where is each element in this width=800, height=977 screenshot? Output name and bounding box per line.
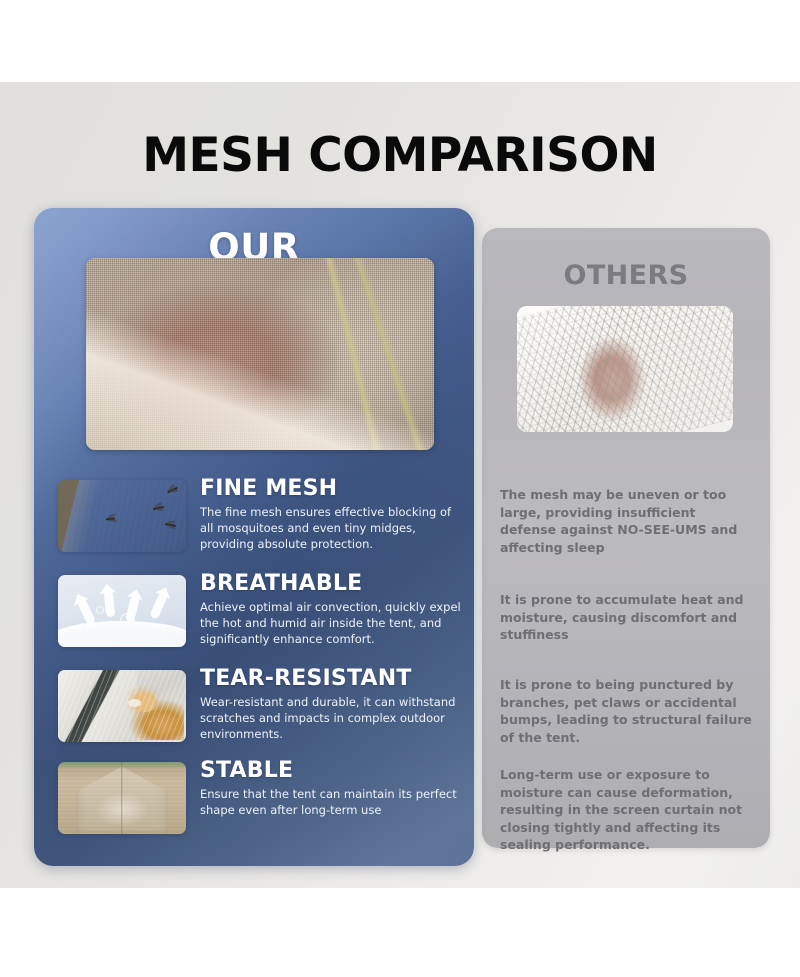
our-panel: OUR FINE MESH The fine mesh ensures effe… xyxy=(34,208,474,866)
feature-thumbnail xyxy=(58,670,186,742)
feature-copy: BREATHABLE Achieve optimal air convectio… xyxy=(200,571,462,647)
others-drawback-item: Long-term use or exposure to moisture ca… xyxy=(500,766,754,854)
others-panel: OTHERS The mesh may be uneven or too lar… xyxy=(482,228,770,848)
feature-description: The fine mesh ensures effective blocking… xyxy=(200,504,462,552)
feature-copy: FINE MESH The fine mesh ensures effectiv… xyxy=(200,476,462,552)
fine-mesh-closeup-illustration xyxy=(86,258,434,450)
feature-heading: BREATHABLE xyxy=(200,571,462,596)
mosquito-icon xyxy=(106,518,115,521)
mosquito-icon xyxy=(153,506,164,510)
airflow-arrow-icon xyxy=(149,592,168,619)
tan-tent-interior-illustration xyxy=(58,762,186,834)
feature-copy: TEAR-RESISTANT Wear-resistant and durabl… xyxy=(200,666,462,742)
feature-thumbnail xyxy=(58,480,186,552)
others-drawback-item: It is prone to accumulate heat and moist… xyxy=(500,591,754,644)
feature-heading: STABLE xyxy=(200,758,462,783)
feature-heading: FINE MESH xyxy=(200,476,462,501)
others-drawback-item: The mesh may be uneven or too large, pro… xyxy=(500,486,754,556)
airflow-arrow-icon xyxy=(77,598,96,625)
our-hero-image xyxy=(86,258,434,450)
air-bubble-icon xyxy=(96,606,104,614)
mosquitoes-illustration xyxy=(58,480,186,552)
others-panel-title: OTHERS xyxy=(482,260,770,291)
feature-copy: STABLE Ensure that the tent can maintain… xyxy=(200,758,462,818)
page-title: MESH COMPARISON xyxy=(0,128,800,184)
feature-description: Ensure that the tent can maintain its pe… xyxy=(200,786,462,818)
feature-thumbnail xyxy=(58,575,186,647)
feature-description: Achieve optimal air convection, quickly … xyxy=(200,599,462,647)
feature-heading: TEAR-RESISTANT xyxy=(200,666,462,691)
air-bubble-icon xyxy=(120,613,135,628)
coarse-mesh-illustration xyxy=(517,306,733,432)
dog-icon xyxy=(128,686,184,740)
air-bubble-icon xyxy=(78,623,88,633)
others-drawback-item: It is prone to being punctured by branch… xyxy=(500,676,754,746)
product-comparison-infographic: MESH COMPARISON OTHERS The mesh may be u… xyxy=(0,0,800,977)
dog-at-tent-illustration xyxy=(58,670,186,742)
mosquito-icon xyxy=(165,523,176,527)
airflow-illustration xyxy=(58,575,186,647)
feature-description: Wear-resistant and durable, it can withs… xyxy=(200,694,462,742)
others-hero-image xyxy=(517,306,733,432)
feature-thumbnail xyxy=(58,762,186,834)
mosquito-icon xyxy=(167,487,178,494)
airflow-arrow-icon xyxy=(104,591,116,618)
